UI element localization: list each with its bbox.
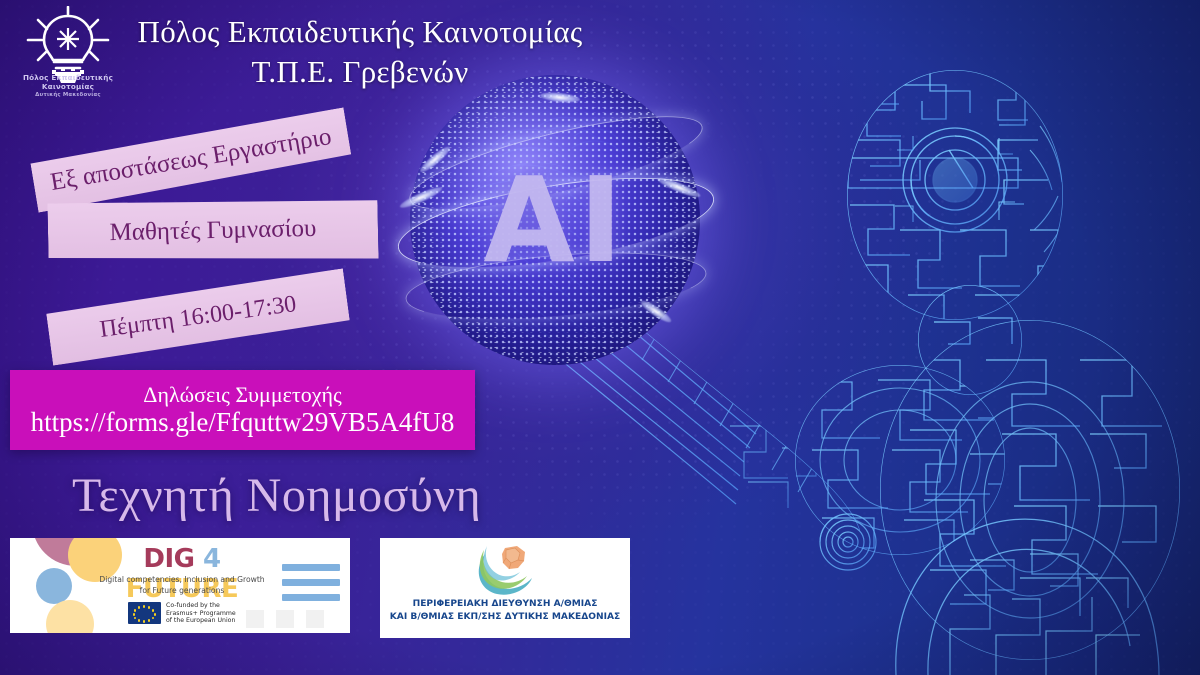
decorative-square bbox=[276, 610, 294, 628]
eu-cofunding-badge: Co-funded by the Erasmus+ Programme of t… bbox=[128, 602, 236, 625]
info-banner-audience: Μαθητές Γυμνασίου bbox=[47, 197, 378, 266]
regional-directorate-caption: ΠΕΡΙΦΕΡΕΙΑΚΗ ΔΙΕΥΘΥΝΣΗ Α/ΘΜΙΑΣ ΚΑΙ Β/ΘΜΙ… bbox=[380, 598, 630, 624]
wordmark-4: 4 bbox=[203, 544, 221, 574]
decorative-square bbox=[306, 610, 324, 628]
dig4future-logo-card: DIG 4 FUTURE Digital competencies, Inclu… bbox=[10, 538, 350, 633]
tagline-line2: for Future generations bbox=[72, 585, 292, 596]
registration-caption: Δηλώσεις Συμμετοχής bbox=[143, 382, 341, 407]
logo-caption-sub: Δυτικής Μακεδονίας bbox=[8, 91, 128, 100]
decorative-blob bbox=[36, 568, 72, 604]
eu-cofunding-text: Co-funded by the Erasmus+ Programme of t… bbox=[166, 602, 236, 625]
eu-text-line3: of the European Union bbox=[166, 617, 236, 625]
header-title-line1: Πόλος Εκπαιδευτικής Καινοτομίας bbox=[138, 14, 583, 49]
header-title-line2: Τ.Π.Ε. Γρεβενών bbox=[100, 52, 620, 92]
caption-line1: ΠΕΡΙΦΕΡΕΙΑΚΗ ΔΙΕΥΘΥΝΣΗ Α/ΘΜΙΑΣ bbox=[380, 598, 630, 611]
dig4future-tagline: Digital competencies, Inclusion and Grow… bbox=[72, 574, 292, 596]
wordmark-dig: DIG bbox=[143, 544, 194, 574]
eu-text-line1: Co-funded by the bbox=[166, 602, 236, 610]
info-banner-audience-label: Μαθητές Γυμνασίου bbox=[109, 215, 316, 247]
decorative-square bbox=[246, 610, 264, 628]
caption-line2: ΚΑΙ Β/ΘΜΙΑΣ ΕΚΠ/ΣΗΣ ΔΥΤΙΚΗΣ ΜΑΚΕΔΟΝΙΑΣ bbox=[380, 611, 630, 624]
regional-directorate-logo-card: ΠΕΡΙΦΕΡΕΙΑΚΗ ΔΙΕΥΘΥΝΣΗ Α/ΘΜΙΑΣ ΚΑΙ Β/ΘΜΙ… bbox=[380, 538, 630, 638]
info-banner-schedule-label: Πέμπτη 16:00-17:30 bbox=[98, 291, 298, 344]
eu-text-line2: Erasmus+ Programme bbox=[166, 610, 236, 618]
registration-url-link[interactable]: https://forms.gle/Ffquttw29VB5A4fU8 bbox=[31, 407, 455, 438]
decorative-blob bbox=[46, 600, 94, 633]
ai-label: AI bbox=[410, 75, 700, 365]
page-title: Τεχνητή Νοημοσύνη bbox=[72, 467, 481, 525]
decorative-bars bbox=[282, 564, 340, 609]
eu-flag-icon bbox=[128, 602, 161, 624]
poster-header-title: Πόλος Εκπαιδευτικής Καινοτομίας Τ.Π.Ε. Γ… bbox=[100, 12, 620, 92]
info-banner-format-label: Εξ αποστάσεως Εργαστήριο bbox=[48, 123, 333, 197]
info-banner-format: Εξ αποστάσεως Εργαστήριο bbox=[30, 107, 353, 212]
western-macedonia-emblem-icon bbox=[475, 544, 537, 596]
poster-canvas: AI Πόλος Εκπαιδευτικής Κ bbox=[0, 0, 1200, 675]
info-banner-schedule: Πέμπτη 16:00-17:30 bbox=[45, 268, 350, 365]
tagline-line1: Digital competencies, Inclusion and Grow… bbox=[72, 574, 292, 585]
ai-globe-graphic: AI bbox=[410, 75, 700, 365]
registration-panel[interactable]: Δηλώσεις Συμμετοχής https://forms.gle/Ff… bbox=[10, 370, 475, 450]
